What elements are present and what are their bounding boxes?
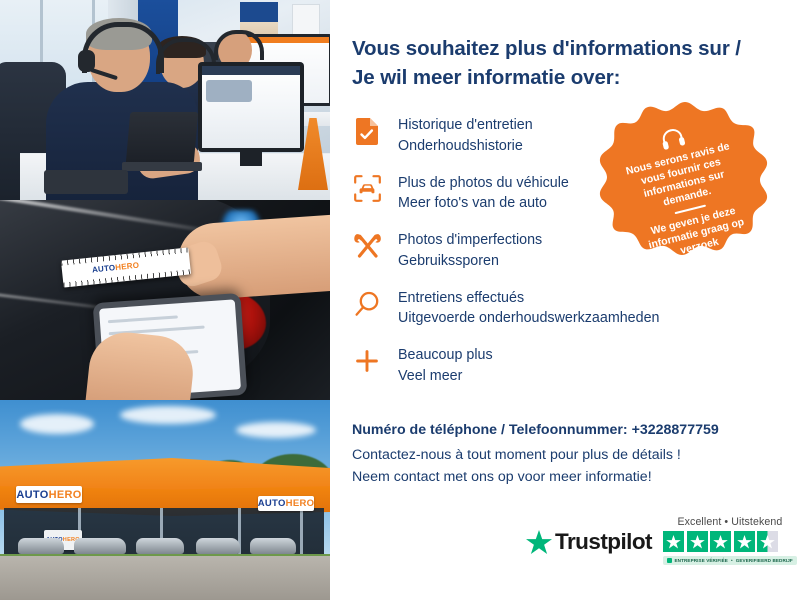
star-full [687,531,708,552]
magnifier-icon [352,287,382,321]
feature-text-nl: Gebruikssporen [398,251,542,272]
desk-tablet [44,170,128,194]
feature-text: Historique d'entretien Onderhoudshistori… [398,114,533,156]
autohero-sign-right: AUTOHERO [258,496,314,511]
feature-item-more-photos: Plus de photos du véhicule Meer foto's v… [352,172,774,214]
feature-text-fr: Photos d'imperfections [398,230,542,251]
laptop [122,112,200,174]
trustpilot-rating-caption: Excellent • Uitstekend [663,516,797,528]
trustpilot-verified-badge: ENTREPRISE VÉRIFIÉE • GEVERIFIEERD BEDRI… [663,556,797,565]
feature-item-imperfections: Photos d'imperfections Gebruikssporen [352,229,774,271]
ruler-logo-auto: AUTO [92,263,116,274]
feature-text-fr: Beaucoup plus [398,345,493,366]
feature-text-fr: Historique d'entretien [398,115,533,136]
flyer-page: AUTOHERO [0,0,800,600]
feature-text-nl: Veel meer [398,366,493,387]
call-center-photo [0,0,330,200]
car-scan-icon [352,172,382,206]
feature-text: Photos d'imperfections Gebruikssporen [398,229,542,271]
contact-text-nl: Neem contact met ons op voor meer inform… [352,466,782,488]
page-title-fr: Vous souhaitez plus d'informations sur / [352,37,741,60]
autohero-sign-left: AUTOHERO [16,486,82,503]
feature-text: Entretiens effectués Uitgevoerde onderho… [398,287,659,329]
feature-text-nl: Meer foto's van de auto [398,193,569,214]
trustpilot-stars [663,531,797,552]
feature-item-service-history: Historique d'entretien Onderhoudshistori… [352,114,774,156]
tools-cross-icon [352,229,382,263]
verified-label-fr: ENTREPRISE VÉRIFIÉE [675,558,728,563]
contact-block: Numéro de téléphone / Telefoonnummer: +3… [352,422,782,488]
feature-text-nl: Uitgevoerde onderhoudswerkzaamheden [398,308,659,329]
phone-line[interactable]: Numéro de téléphone / Telefoonnummer: +3… [352,422,782,438]
foreground-monitor [198,62,304,152]
star-full [734,531,755,552]
feature-text-nl: Onderhoudshistorie [398,136,533,157]
contact-text-fr: Contactez-nous à tout moment pour plus d… [352,444,782,466]
feature-text: Plus de photos du véhicule Meer foto's v… [398,172,569,214]
feature-text-fr: Plus de photos du véhicule [398,173,569,194]
trustpilot-wordmark: Trustpilot [555,529,652,555]
photo-column: AUTOHERO [0,0,330,600]
feature-text: Beaucoup plus Veel meer [398,344,493,386]
inspection-photo: AUTOHERO [0,200,330,400]
feature-text-fr: Entretiens effectués [398,288,659,309]
ruler-logo-hero: HERO [115,261,140,272]
content-panel: Vous souhaitez plus d'informations sur /… [330,0,800,600]
verified-check-icon [667,558,672,563]
pavement [0,556,330,600]
page-title: Vous souhaitez plus d'informations sur /… [352,34,774,92]
trustpilot-logo: Trustpilot [526,516,652,555]
feature-list: Historique d'entretien Onderhoudshistori… [352,114,774,386]
star-half [757,531,778,552]
star-full [710,531,731,552]
trustpilot-widget[interactable]: Trustpilot Excellent • Uitstekend [526,516,797,565]
dealership-photo: AUTOHERO AUTOHERO AUTOHERO [0,400,330,600]
star-full [663,531,684,552]
plus-icon [352,344,382,378]
feature-item-much-more: Beaucoup plus Veel meer [352,344,774,386]
verified-label-nl: GEVERIFIEERD BEDRIJF [736,558,793,563]
verified-separator: • [731,558,733,563]
feature-item-maintenance-done: Entretiens effectués Uitgevoerde onderho… [352,287,774,329]
trustpilot-star-icon [526,530,552,555]
document-check-icon [352,114,382,148]
